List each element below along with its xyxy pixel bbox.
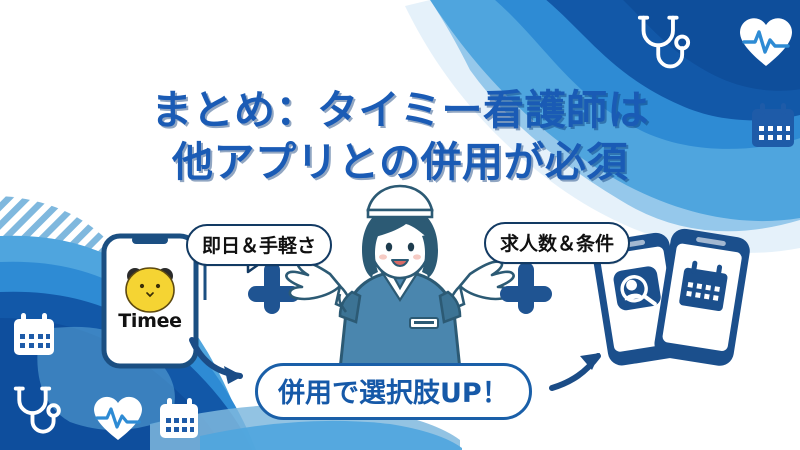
- arrow-left-to-banner: [192, 340, 243, 384]
- timee-app-label: Timee: [108, 310, 192, 332]
- nurse-illustration: [286, 186, 513, 370]
- badge-immediate-easy[interactable]: 即日＆手軽さ: [186, 224, 332, 266]
- timee-mascot-icon: [126, 268, 174, 312]
- banner-more-options[interactable]: 併用で選択肢UP！: [255, 363, 532, 420]
- timee-phone[interactable]: [104, 236, 196, 366]
- arrow-right-from-banner: [552, 353, 600, 388]
- plus-icon-right: [500, 262, 552, 314]
- badge-job-count-conditions[interactable]: 求人数＆条件: [484, 222, 630, 264]
- nurse-hand-right: [450, 262, 514, 310]
- slide-canvas: まとめ：タイミー看護師は 他アプリとの併用が必須: [0, 0, 800, 450]
- person-search-icon: [612, 265, 662, 311]
- nurse-cap-icon: [368, 186, 432, 217]
